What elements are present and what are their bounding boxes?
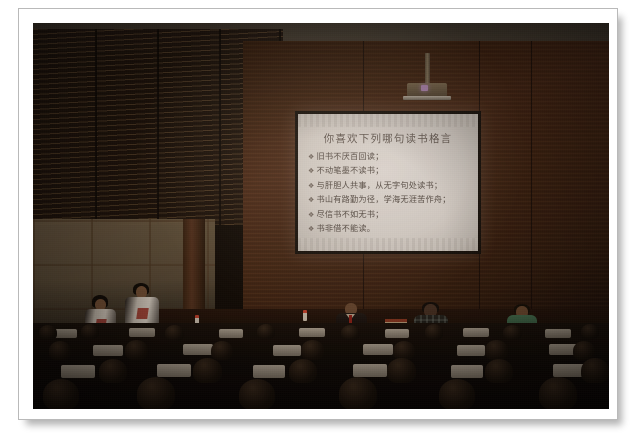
slide-bullet-text: 书非借不能读。 — [316, 223, 375, 233]
audience-head — [581, 324, 599, 339]
audience-head — [339, 377, 377, 409]
slide-bullet-text: 尽信书不如无书； — [316, 209, 383, 219]
projection-screen: 你喜欢下列哪句读书格言 ❖旧书不厌百回读； ❖不动笔墨不读书； ❖与肝胆人共事，… — [298, 114, 478, 251]
audience-head — [301, 340, 324, 360]
bullet-icon: ❖ — [308, 153, 314, 161]
screen-texture-band — [298, 238, 478, 251]
audience-head — [387, 358, 416, 383]
audience-head — [425, 324, 443, 340]
audience-head — [39, 325, 57, 340]
audience-head — [125, 340, 148, 360]
slide-bullet-item: ❖与肝胆人共事，从无字句处读书； — [308, 179, 472, 193]
audience-head — [99, 359, 127, 383]
bullet-icon: ❖ — [308, 182, 314, 190]
photograph: 你喜欢下列哪句读书格言 ❖旧书不厌百回读； ❖不动笔墨不读书； ❖与肝胆人共事，… — [33, 23, 609, 409]
seat-back — [93, 345, 123, 356]
water-bottle — [303, 310, 307, 321]
bullet-icon: ❖ — [308, 196, 314, 204]
seat-back — [451, 365, 483, 378]
audience-head — [485, 359, 513, 383]
audience-head — [211, 341, 233, 360]
audience-head — [289, 359, 317, 383]
audience-head — [257, 324, 275, 339]
projection-screen-frame: 你喜欢下列哪句读书格言 ❖旧书不厌百回读； ❖不动笔墨不读书； ❖与肝胆人共事，… — [295, 111, 481, 254]
audience-head — [503, 325, 522, 340]
seat-back — [129, 328, 155, 337]
audience-head — [581, 358, 609, 383]
louver-divider — [157, 29, 159, 225]
louver-divider — [219, 29, 221, 225]
slide-bullet-item: ❖书非借不能读。 — [308, 222, 472, 236]
audience-head — [81, 324, 99, 339]
wood-wall-seam — [531, 41, 532, 331]
bullet-icon: ❖ — [308, 167, 314, 175]
seat-back — [463, 328, 489, 337]
slide-bullet-item: ❖尽信书不如无书； — [308, 208, 472, 222]
audience-head — [341, 325, 360, 340]
seat-back — [273, 345, 301, 356]
audience-head — [439, 379, 475, 409]
slide-bullet-text: 与肝胆人共事，从无字句处读书； — [316, 180, 442, 190]
audience-head — [43, 379, 79, 409]
audience-head — [485, 340, 508, 360]
seat-back — [545, 329, 571, 338]
audience-head — [193, 358, 222, 383]
slide-bullet-text: 不动笔墨不读书； — [316, 165, 383, 175]
seat-back — [299, 328, 325, 337]
projector-base — [403, 96, 451, 100]
slide-bullet-item: ❖书山有路勤为径，学海无涯苦作舟； — [308, 193, 472, 207]
seat-back — [157, 364, 191, 377]
audience-head — [239, 379, 275, 409]
seat-back — [183, 344, 213, 355]
audience-head — [539, 377, 577, 409]
audience-head — [573, 341, 595, 360]
slide-bullet-list: ❖旧书不厌百回读； ❖不动笔墨不读书； ❖与肝胆人共事，从无字句处读书； ❖书山… — [308, 150, 472, 236]
bullet-icon: ❖ — [308, 225, 314, 233]
audience-head — [393, 341, 415, 360]
audience-head — [137, 377, 175, 409]
audience-seating — [33, 323, 609, 409]
slide-bullet-text: 旧书不厌百回读； — [316, 151, 383, 161]
slide-bullet-item: ❖不动笔墨不读书； — [308, 164, 472, 178]
louver-divider — [95, 29, 97, 225]
photo-frame: 你喜欢下列哪句读书格言 ❖旧书不厌百回读； ❖不动笔墨不读书； ❖与肝胆人共事，… — [18, 8, 618, 420]
audience-head — [165, 325, 184, 341]
audience-head — [49, 341, 71, 360]
seat-back — [457, 345, 485, 356]
projector-mount-pole — [425, 53, 430, 85]
slide-bullet-item: ❖旧书不厌百回读； — [308, 150, 472, 164]
projector-lens-icon — [421, 85, 428, 91]
slide-title: 你喜欢下列哪句读书格言 — [298, 131, 478, 146]
seat-back — [61, 365, 95, 378]
bullet-icon: ❖ — [308, 211, 314, 219]
slide-bullet-text: 书山有路勤为径，学海无涯苦作舟； — [316, 194, 450, 204]
screen-texture-band — [298, 114, 478, 127]
seat-back — [219, 329, 243, 338]
seat-back — [363, 344, 393, 355]
uniform-stripe — [136, 308, 149, 319]
seat-back — [253, 365, 285, 378]
seat-back — [385, 329, 409, 338]
auditorium-scene: 你喜欢下列哪句读书格言 ❖旧书不厌百回读； ❖不动笔墨不读书； ❖与肝胆人共事，… — [33, 23, 609, 409]
seat-back — [353, 364, 387, 377]
